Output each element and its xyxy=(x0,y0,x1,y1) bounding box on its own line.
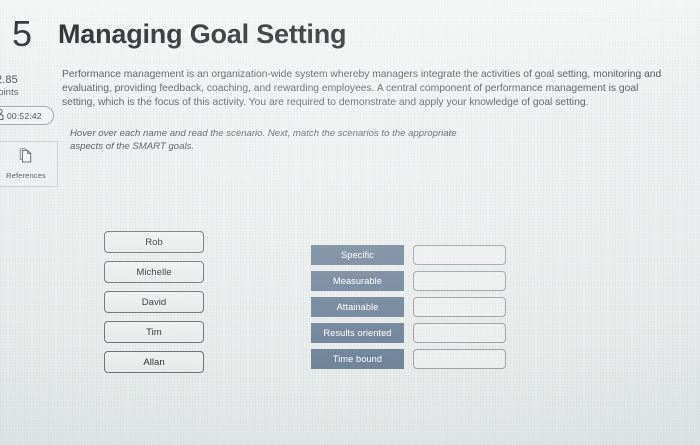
left-rail: 2.85 points 00:52:42 References xyxy=(0,74,58,187)
smart-label: Time bound xyxy=(311,349,404,369)
smart-drop-target[interactable] xyxy=(413,245,506,265)
smart-row: Time bound xyxy=(311,349,506,369)
smart-row: Measurable xyxy=(311,271,506,291)
smart-label: Attainable xyxy=(311,297,404,317)
smart-drop-target[interactable] xyxy=(413,297,506,317)
points-label: points xyxy=(0,87,58,99)
smart-label: Measurable xyxy=(311,271,404,291)
smart-label: Results oriented xyxy=(311,323,404,343)
points-value: 2.85 xyxy=(0,74,58,87)
name-button[interactable]: Rob xyxy=(104,231,204,253)
person-clock-icon xyxy=(0,107,4,125)
smart-drop-target[interactable] xyxy=(413,349,506,369)
smart-row: Attainable xyxy=(311,297,506,317)
smart-row: Specific xyxy=(311,245,506,265)
intro-paragraph: Performance management is an organizatio… xyxy=(62,68,669,111)
smart-drop-target[interactable] xyxy=(413,323,506,343)
references-label: References xyxy=(6,171,46,180)
smart-label: Specific xyxy=(311,245,404,265)
name-button[interactable]: Allan xyxy=(104,351,204,373)
instruction-text: Hover over each name and read the scenar… xyxy=(70,128,460,153)
smart-row: Results oriented xyxy=(311,323,506,343)
timer-pill[interactable]: 00:52:42 xyxy=(0,106,54,125)
page-title: Managing Goal Setting xyxy=(58,18,346,50)
references-button[interactable]: References xyxy=(0,141,58,187)
documents-icon xyxy=(18,148,34,170)
names-column: Rob Michelle David Tim Allan xyxy=(104,231,204,381)
question-number: 5 xyxy=(12,16,32,52)
name-button[interactable]: David xyxy=(104,291,204,313)
smart-matching-area: Specific Measurable Attainable Results o… xyxy=(311,245,506,375)
name-button[interactable]: Michelle xyxy=(104,261,204,283)
name-button[interactable]: Tim xyxy=(104,321,204,343)
smart-drop-target[interactable] xyxy=(413,271,506,291)
timer-value: 00:52:42 xyxy=(7,111,42,121)
